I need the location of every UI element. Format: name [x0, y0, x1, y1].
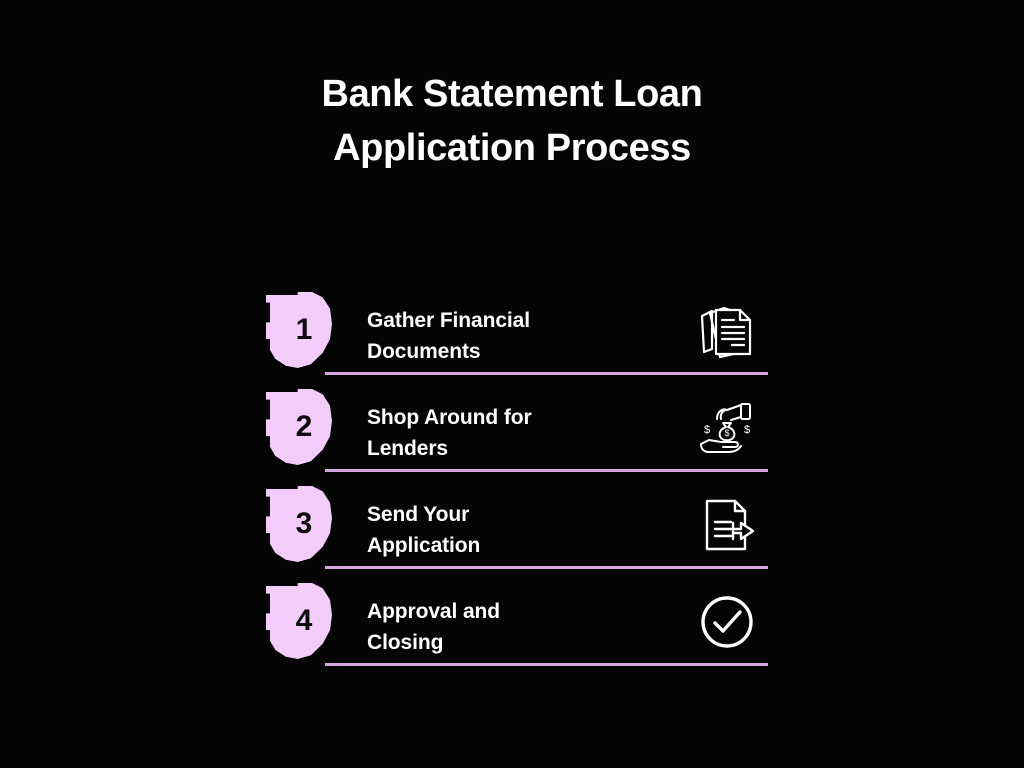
page-title: Bank Statement Loan Application Process — [0, 68, 1024, 176]
step-row: 1 Gather Financial Documents — [266, 292, 776, 371]
check-circle-icon — [684, 588, 770, 656]
document-send-arrow-icon — [684, 491, 770, 559]
step-divider — [325, 469, 768, 472]
step-badge-4: 4 — [266, 583, 332, 659]
svg-text:$: $ — [744, 424, 750, 436]
svg-text:$: $ — [704, 424, 710, 436]
documents-stack-icon — [684, 297, 770, 365]
step-badge-1: 1 — [266, 292, 332, 368]
infographic-canvas: Bank Statement Loan Application Process … — [0, 0, 1024, 768]
hand-money-bag-icon: $ $ $ — [684, 394, 770, 462]
step-badge-2: 2 — [266, 389, 332, 465]
step-divider — [325, 372, 768, 375]
step-number: 3 — [266, 486, 332, 562]
step-label: Approval and Closing — [367, 597, 667, 658]
step-number: 4 — [266, 583, 332, 659]
step-label: Shop Around for Lenders — [367, 403, 667, 464]
step-row: 3 Send Your Application — [266, 486, 776, 565]
step-row: 2 Shop Around for Lenders $ $ $ — [266, 389, 776, 468]
step-badge-3: 3 — [266, 486, 332, 562]
step-divider — [325, 566, 768, 569]
steps-list: 1 Gather Financial Documents — [266, 292, 776, 680]
step-divider — [325, 663, 768, 666]
svg-text:$: $ — [724, 428, 729, 438]
step-number: 2 — [266, 389, 332, 465]
step-label: Send Your Application — [367, 500, 667, 561]
step-label: Gather Financial Documents — [367, 306, 667, 367]
step-row: 4 Approval and Closing — [266, 583, 776, 662]
step-number: 1 — [266, 292, 332, 368]
